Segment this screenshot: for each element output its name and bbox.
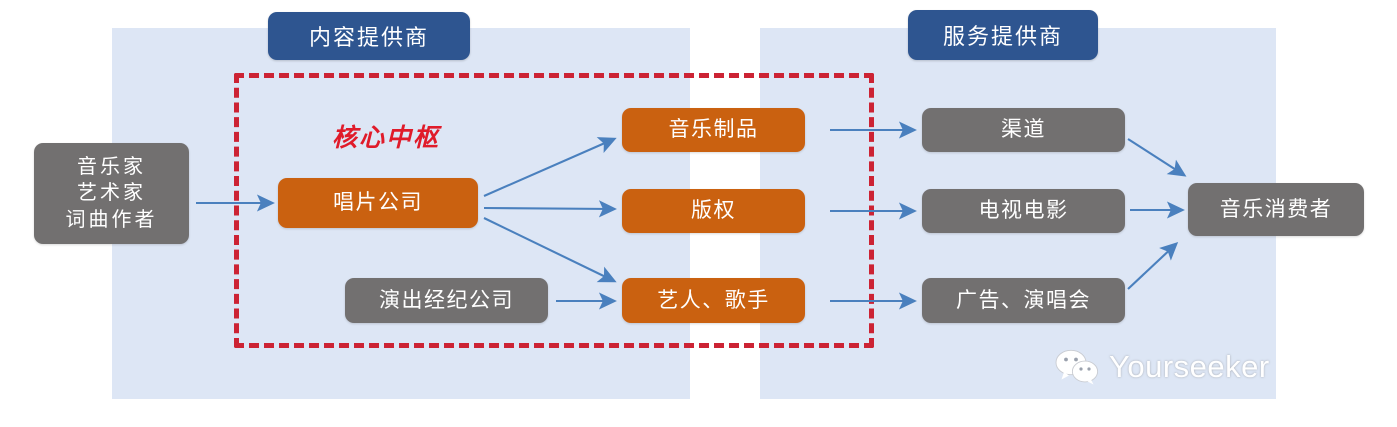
section-header-service-provider: 服务提供商 (908, 10, 1098, 60)
watermark-text: Yourseeker (1109, 349, 1270, 385)
section-header-content-provider: 内容提供商 (268, 12, 470, 60)
node-music-products: 音乐制品 (622, 108, 805, 152)
node-record-label: 唱片公司 (278, 178, 478, 228)
node-channels: 渠道 (922, 108, 1125, 152)
node-copyright: 版权 (622, 189, 805, 233)
watermark: Yourseeker (1055, 349, 1270, 385)
wechat-icon (1055, 349, 1099, 385)
node-music-consumers: 音乐消费者 (1188, 183, 1364, 236)
node-creators-line-1: 音乐家 (77, 154, 146, 180)
diagram-canvas: 内容提供商 服务提供商 核心中枢 音乐家 艺术家 词曲作者 唱片公司 演出经纪公… (0, 0, 1397, 427)
core-hub-label: 核心中枢 (332, 118, 440, 154)
node-artists-singers: 艺人、歌手 (622, 278, 805, 323)
node-performance-agency: 演出经纪公司 (345, 278, 548, 323)
node-creators-line-3: 词曲作者 (66, 207, 158, 233)
node-tv-film: 电视电影 (922, 189, 1125, 233)
node-creators-line-2: 艺术家 (77, 180, 146, 206)
node-ads-concerts: 广告、演唱会 (922, 278, 1125, 323)
node-creators: 音乐家 艺术家 词曲作者 (34, 143, 189, 244)
